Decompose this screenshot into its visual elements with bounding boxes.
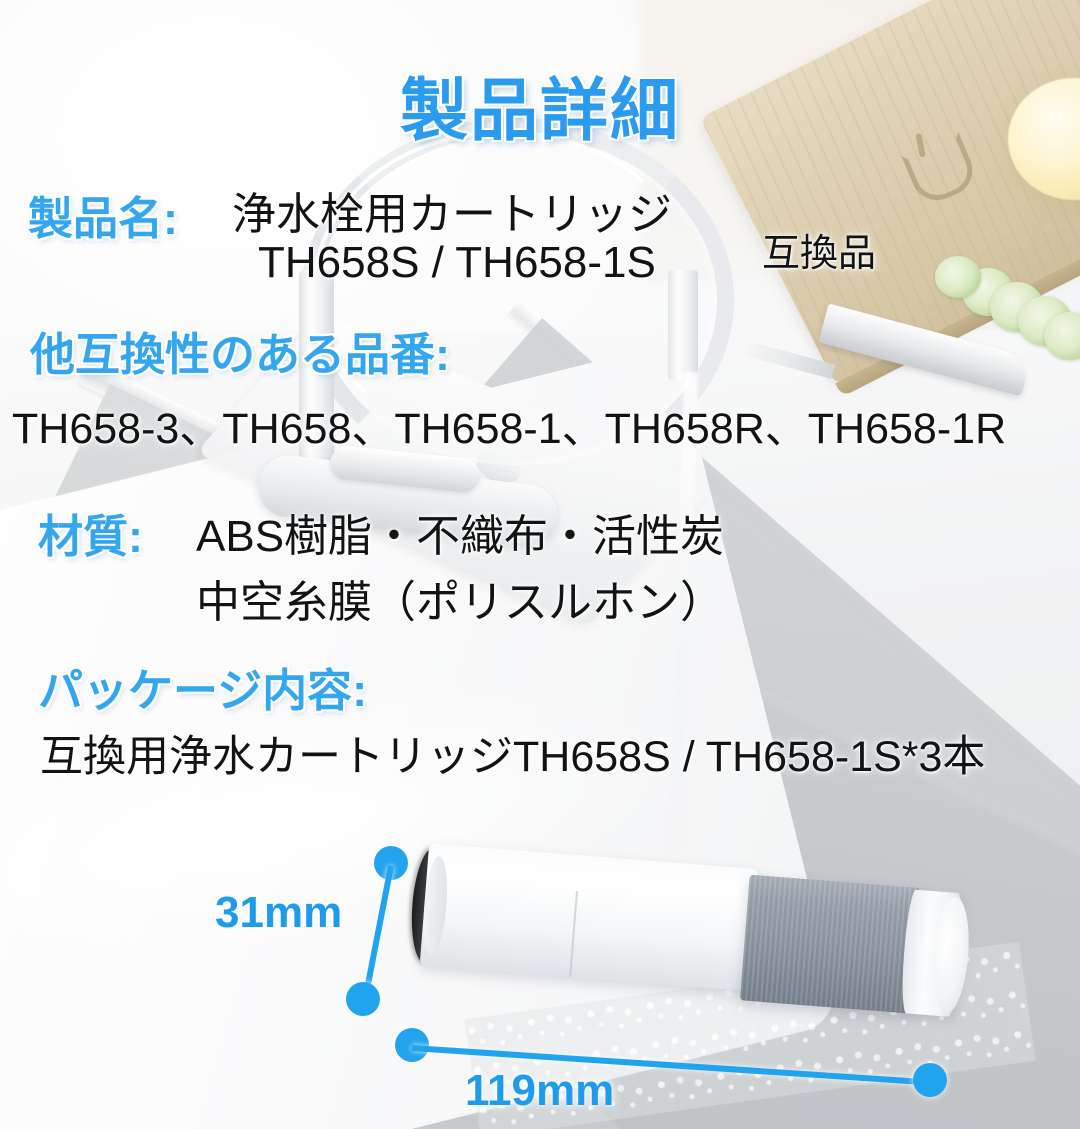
material-value-line2: 中空糸膜（ポリスルホン）	[196, 566, 724, 630]
product-name-value-line1: 浄水栓用カートリッジ	[232, 178, 672, 242]
product-name-label: 製品名:	[28, 182, 178, 247]
compatible-product-badge: 互換品	[762, 222, 876, 277]
height-dimension-label: 31mm	[215, 888, 342, 938]
package-contents-label: パッケージ内容:	[38, 654, 367, 719]
material-value-line1: ABS樹脂・不織布・活性炭	[196, 500, 724, 564]
material-label: 材質:	[38, 500, 143, 565]
compatible-models-label: 他互換性のある品番:	[30, 318, 450, 383]
length-dimension-label: 119mm	[465, 1066, 614, 1116]
product-detail-image: 製品詳細 製品名: 浄水栓用カートリッジ TH658S / TH658-1S 互…	[0, 0, 1080, 1129]
page-title: 製品詳細	[0, 55, 1080, 154]
length-dimension-dot-right	[913, 1063, 947, 1097]
package-contents-value: 互換用浄水カートリッジTH658S / TH658-1S*3本	[40, 722, 985, 784]
spec-text-overlay: 製品詳細 製品名: 浄水栓用カートリッジ TH658S / TH658-1S 互…	[0, 0, 1080, 1129]
compatible-models-value: TH658-3、TH658、TH658-1、TH658R、TH658-1R	[12, 394, 1006, 456]
product-name-value-line2: TH658S / TH658-1S	[258, 238, 656, 288]
height-dimension-dot-bottom	[346, 982, 380, 1016]
